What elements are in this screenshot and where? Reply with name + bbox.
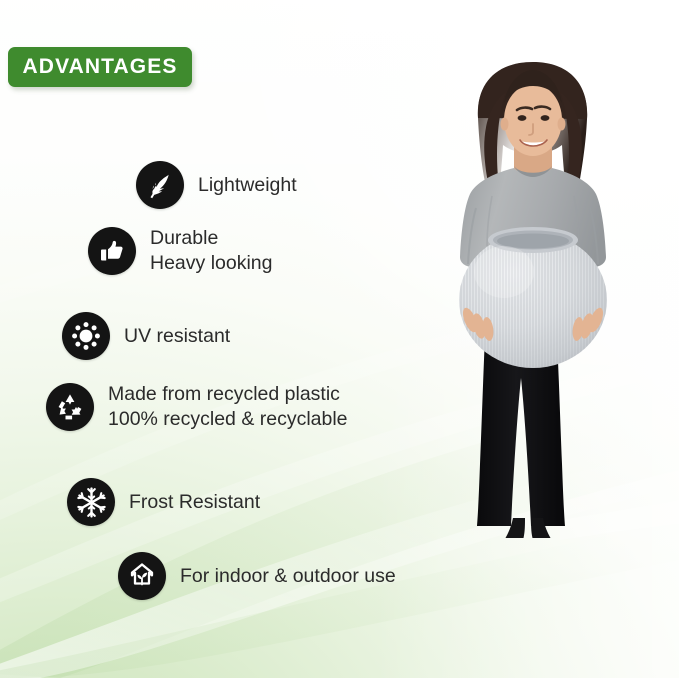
snowflake-icon: [67, 478, 115, 526]
feature-line1: UV resistant: [124, 325, 230, 347]
feature-item-durable: Durable Heavy looking: [88, 226, 272, 276]
thumbs-up-icon: [88, 227, 136, 275]
model-photo-woman-holding-planter: [418, 48, 648, 538]
infographic-canvas: ADVANTAGES Lightweight Durable Heavy loo…: [0, 0, 679, 678]
feature-line1: Frost Resistant: [129, 491, 260, 513]
feature-label-recycled: Made from recycled plastic 100% recycled…: [108, 382, 348, 432]
home-plant-icon: [118, 552, 166, 600]
feature-item-uv-resistant: UV resistant: [62, 312, 230, 360]
feature-label-uv-resistant: UV resistant: [124, 324, 230, 349]
feature-line1: For indoor & outdoor use: [180, 565, 396, 587]
sun-icon: [62, 312, 110, 360]
feature-item-lightweight: Lightweight: [136, 161, 297, 209]
feature-line1: Lightweight: [198, 174, 297, 196]
feature-label-frost-resistant: Frost Resistant: [129, 490, 260, 515]
feature-item-frost-resistant: Frost Resistant: [67, 478, 260, 526]
feather-icon: [136, 161, 184, 209]
feature-line1: Durable: [150, 227, 218, 249]
feature-label-lightweight: Lightweight: [198, 173, 297, 198]
feature-line2: Heavy looking: [150, 251, 272, 276]
advantages-badge: ADVANTAGES: [8, 47, 192, 87]
feature-label-durable: Durable Heavy looking: [150, 226, 272, 276]
feature-line2: 100% recycled & recyclable: [108, 407, 348, 432]
recycle-icon: [46, 383, 94, 431]
feature-item-recycled: Made from recycled plastic 100% recycled…: [46, 382, 348, 432]
feature-line1: Made from recycled plastic: [108, 383, 340, 405]
feature-label-indoor-outdoor: For indoor & outdoor use: [180, 564, 396, 589]
advantages-badge-label: ADVANTAGES: [23, 55, 178, 79]
feature-item-indoor-outdoor: For indoor & outdoor use: [118, 552, 396, 600]
